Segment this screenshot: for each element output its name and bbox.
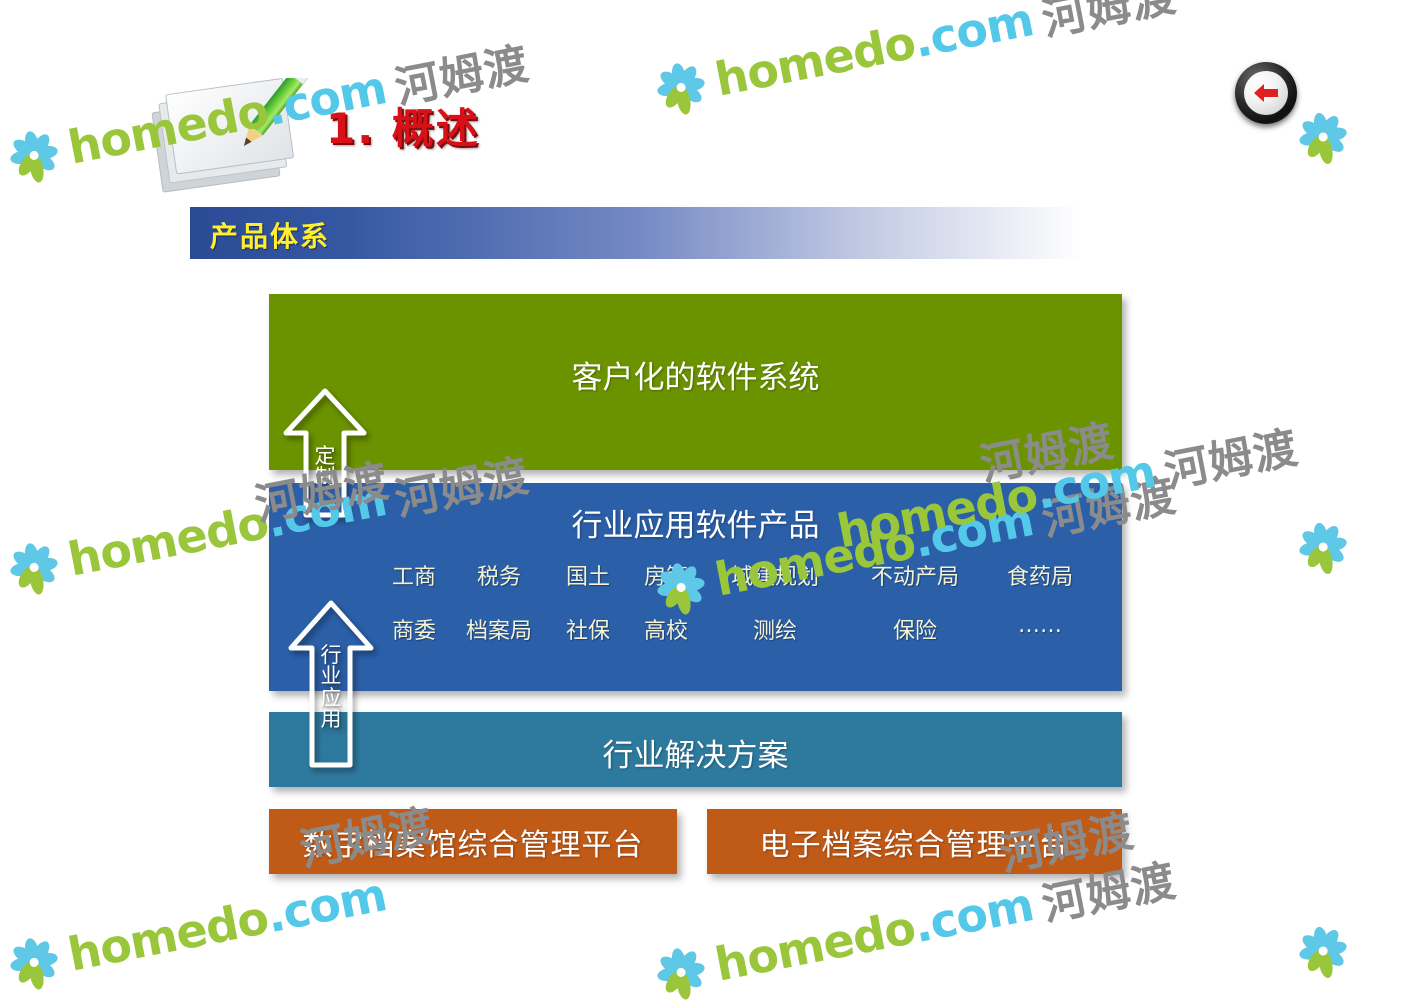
- flower-logo-icon: [3, 932, 64, 993]
- sector-item: 商委: [379, 613, 449, 645]
- up-arrow-industry-application: 行 业 应 用: [288, 600, 374, 768]
- arrow-label: 行 业 应 用: [288, 645, 374, 731]
- flower-logo-icon: [1296, 520, 1350, 574]
- watermark-brand-cn: 河姆渡: [1158, 411, 1303, 500]
- flower-logo-icon: [3, 537, 64, 598]
- platform-box-electronic-archive: 电子档案综合管理平台: [707, 809, 1122, 874]
- flower-logo-icon: [650, 942, 711, 1003]
- platform-label: 电子档案综合管理平台: [760, 820, 1070, 864]
- arrow-label: 定 制: [283, 446, 367, 489]
- platform-box-digital-archive: 数字档案馆综合管理平台: [269, 809, 677, 874]
- watermark-brand: homedo.com: [711, 0, 1038, 107]
- sector-row: 商委档案局社保高校测绘保险……: [379, 613, 1122, 645]
- sector-item: 城建规划: [705, 559, 845, 591]
- back-button[interactable]: [1235, 62, 1297, 124]
- sector-row: 工商税务国土房管城建规划不动产局食药局: [379, 559, 1122, 591]
- sector-item: 社保: [549, 613, 627, 645]
- flower-logo-icon: [1296, 924, 1350, 978]
- flower-logo-icon: [650, 57, 711, 118]
- sector-item: 工商: [379, 559, 449, 591]
- layer-title: 行业应用软件产品: [269, 500, 1122, 545]
- platform-label: 数字档案馆综合管理平台: [303, 820, 644, 864]
- watermark: homedo.com 河姆渡: [649, 0, 1181, 123]
- layer-industry-solutions: 行业解决方案: [269, 712, 1122, 787]
- watermark-brand: homedo.com: [64, 867, 391, 982]
- sector-item: 税务: [449, 559, 549, 591]
- layer-title: 客户化的软件系统: [269, 352, 1122, 397]
- layer-customized-software: 客户化的软件系统: [269, 294, 1122, 470]
- layer-title: 行业解决方案: [269, 730, 1122, 775]
- section-header-bar: 产品体系: [190, 207, 1082, 259]
- page-title: 1. 概述: [326, 95, 480, 156]
- back-arrow-icon: [1244, 71, 1288, 115]
- notepad-pencil-icon: [142, 78, 322, 193]
- sector-item: 房管: [627, 559, 705, 591]
- sector-item: 档案局: [449, 613, 549, 645]
- watermark-brand: homedo.com: [711, 877, 1038, 992]
- watermark-brand-cn: 河姆渡: [1036, 0, 1181, 48]
- sector-item: 保险: [845, 613, 985, 645]
- watermark: [1296, 924, 1350, 978]
- sector-item: 食药局: [985, 559, 1095, 591]
- flower-logo-icon: [1296, 110, 1350, 164]
- sector-item: 测绘: [705, 613, 845, 645]
- sector-item: 高校: [627, 613, 705, 645]
- sector-item: 不动产局: [845, 559, 985, 591]
- up-arrow-customization: 定 制: [283, 388, 367, 518]
- watermark: homedo.com: [3, 867, 391, 993]
- watermark: [1296, 110, 1350, 164]
- section-title: 产品体系: [210, 215, 330, 255]
- sector-item: ……: [985, 613, 1095, 645]
- layer-industry-application-products: 行业应用软件产品 工商税务国土房管城建规划不动产局食药局 商委档案局社保高校测绘…: [269, 483, 1122, 691]
- flower-logo-icon: [3, 125, 64, 186]
- watermark: [1296, 520, 1350, 574]
- sector-item: 国土: [549, 559, 627, 591]
